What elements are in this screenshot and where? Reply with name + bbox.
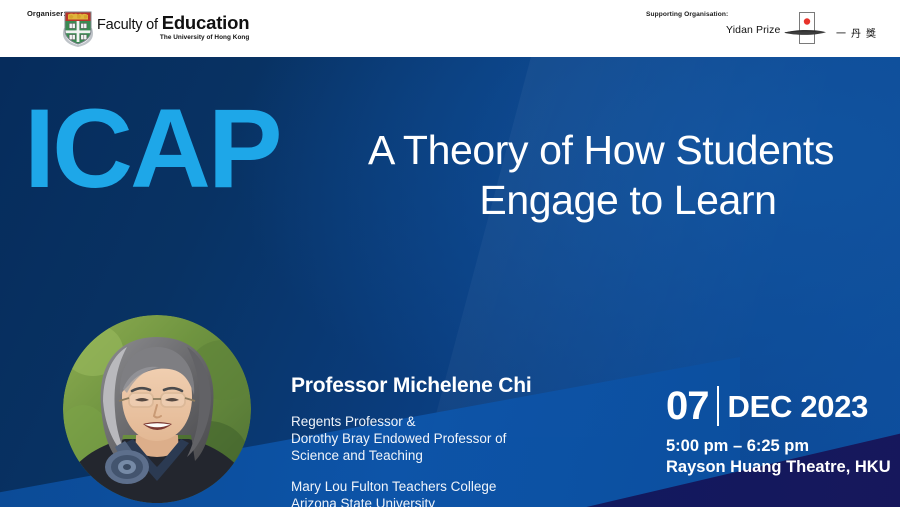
speaker-role-line-3: Science and Teaching [291, 447, 531, 464]
poster-headline: A Theory of How Students Engage to Learn [368, 125, 888, 225]
speaker-portrait [63, 315, 251, 503]
date-divider [717, 386, 719, 426]
faculty-word-bold: Education [162, 12, 250, 33]
poster-header: Organiser: [0, 0, 900, 57]
hku-crest-icon [60, 8, 96, 48]
event-details: 07 DEC 2023 5:00 pm – 6:25 pm Rayson Hua… [666, 384, 891, 478]
speaker-name: Professor Michelene Chi [291, 373, 531, 399]
event-time: 5:00 pm – 6:25 pm [666, 436, 891, 457]
speaker-role: Regents Professor & Dorothy Bray Endowed… [291, 413, 531, 464]
speaker-role-line-1: Regents Professor & [291, 413, 531, 430]
speaker-affiliation-line-1: Mary Lou Fulton Teachers College [291, 478, 531, 495]
faculty-of-education-logo: Faculty of Education The University of H… [97, 14, 249, 44]
speaker-affiliation-line-2: Arizona State University [291, 495, 531, 507]
event-day: 07 [666, 386, 709, 426]
supporting-organisation-label: Supporting Organisation: [646, 11, 728, 18]
yidan-prize-chinese: 一丹獎 [836, 25, 881, 40]
icap-acronym: ICAP [24, 93, 280, 205]
speaker-info: Professor Michelene Chi Regents Professo… [291, 373, 531, 507]
speaker-affiliation: Mary Lou Fulton Teachers College Arizona… [291, 478, 531, 507]
event-month-year: DEC 2023 [728, 391, 869, 422]
event-date: 07 DEC 2023 [666, 384, 891, 428]
event-venue: Rayson Huang Theatre, HKU [666, 457, 891, 478]
headline-line-2: Engage to Learn [368, 175, 888, 225]
faculty-subtitle: The University of Hong Kong [97, 34, 249, 41]
faculty-word-light: Faculty of [97, 17, 162, 33]
headline-line-1: A Theory of How Students [368, 127, 834, 173]
speaker-role-line-2: Dorothy Bray Endowed Professor of [291, 430, 531, 447]
yidan-prize-logo-icon [782, 11, 832, 47]
event-poster: Organiser: [0, 0, 900, 507]
poster-banner: ICAP A Theory of How Students Engage to … [0, 57, 900, 507]
yidan-prize-name: Yidan Prize [726, 24, 780, 36]
